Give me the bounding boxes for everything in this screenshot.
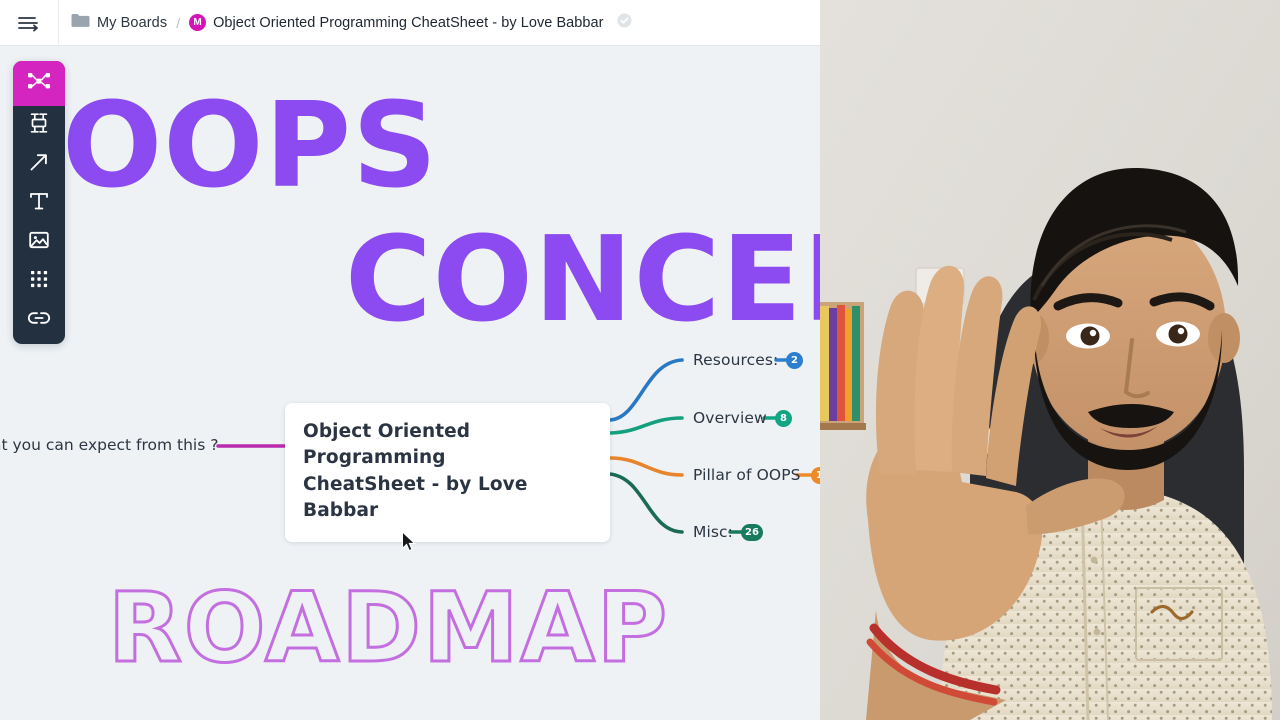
- connector-tool[interactable]: [13, 145, 65, 184]
- board-avatar: M: [189, 14, 206, 31]
- frame-tool[interactable]: [13, 106, 65, 145]
- mindmap-node-icon: [27, 71, 51, 96]
- board-title[interactable]: Object Oriented Programming CheatSheet -…: [213, 15, 603, 31]
- top-breadcrumb-bar: My Boards / M Object Oriented Programmin…: [0, 0, 820, 46]
- grid-apps-icon: [29, 269, 49, 294]
- branch-label-resources[interactable]: Resources:: [693, 351, 778, 369]
- branch-label-misc[interactable]: Misc:: [693, 523, 733, 541]
- text-tool[interactable]: [13, 184, 65, 223]
- branch-count-overview[interactable]: 8: [775, 410, 792, 427]
- arrow-connector-icon: [28, 151, 50, 178]
- left-tool-palette: [13, 61, 65, 344]
- headline-roadmap: ROADMAP: [108, 580, 669, 676]
- branch-line-resources: [610, 360, 682, 420]
- image-tool[interactable]: [13, 223, 65, 262]
- branch-label-overview[interactable]: Overview: [693, 409, 767, 427]
- breadcrumb: My Boards / M Object Oriented Programmin…: [59, 13, 632, 33]
- text-icon: [28, 190, 50, 217]
- link-tool[interactable]: [13, 301, 65, 340]
- branch-line-misc: [610, 474, 682, 532]
- branch-line-pillar: [610, 458, 682, 475]
- breadcrumb-separator: /: [174, 15, 182, 31]
- presenter-video-overlay: [820, 0, 1280, 720]
- mindmap-tool[interactable]: [13, 61, 65, 106]
- mindmap-center-node[interactable]: Object Oriented Programming CheatSheet -…: [285, 403, 610, 542]
- folder-icon: [71, 13, 90, 33]
- branch-label-pillar[interactable]: Pillar of OOPS: [693, 466, 801, 484]
- center-node-line2: CheatSheet - by Love Babbar: [303, 472, 592, 525]
- frame-topic-icon: [27, 112, 51, 139]
- link-icon: [27, 310, 51, 331]
- branch-count-misc[interactable]: 26: [741, 524, 763, 541]
- branch-label-left[interactable]: at you can expect from this ?: [0, 436, 218, 454]
- branch-count-resources[interactable]: 2: [786, 352, 803, 369]
- collapse-sidebar-icon[interactable]: [0, 0, 59, 46]
- apps-tool[interactable]: [13, 262, 65, 301]
- branch-line-overview: [610, 418, 682, 433]
- image-icon: [28, 230, 50, 255]
- center-node-line1: Object Oriented Programming: [303, 419, 592, 472]
- app-window: My Boards / M Object Oriented Programmin…: [0, 0, 1280, 720]
- breadcrumb-folder-label[interactable]: My Boards: [97, 15, 167, 31]
- headline-oops: OOPS: [62, 86, 438, 204]
- verified-check-icon: [617, 13, 632, 33]
